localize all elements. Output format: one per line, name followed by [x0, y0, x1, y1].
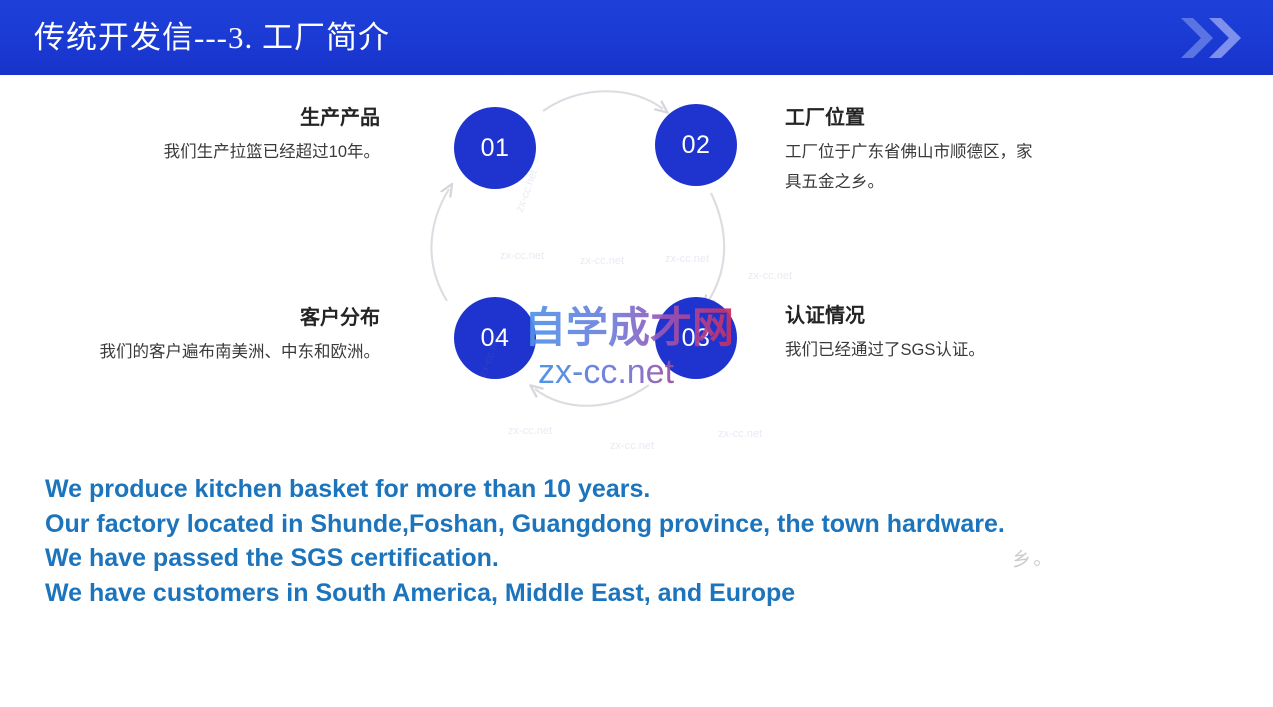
- quadrant-certification-heading: 认证情况: [785, 303, 1085, 329]
- cycle-node-02[interactable]: 02: [655, 104, 737, 186]
- quadrant-location-heading: 工厂位置: [785, 105, 1045, 131]
- watermark-tile: zx-cc.net: [610, 440, 654, 452]
- quadrant-customers-heading: 客户分布: [60, 305, 380, 331]
- quadrant-production: 生产产品 我们生产拉篮已经超过10年。: [60, 105, 380, 167]
- english-line-4: We have customers in South America, Midd…: [45, 576, 1055, 611]
- english-summary: We produce kitchen basket for more than …: [45, 472, 1055, 610]
- quadrant-customers: 客户分布 我们的客户遍布南美洲、中东和欧洲。: [60, 305, 380, 367]
- header-banner: 传统开发信---3. 工厂简介: [0, 0, 1273, 75]
- quadrant-certification-body: 我们已经通过了SGS认证。: [785, 335, 1085, 365]
- double-chevron-right-icon: [1179, 12, 1251, 64]
- cycle-node-01[interactable]: 01: [454, 107, 536, 189]
- watermark-tile: zx-cc.net: [508, 425, 552, 437]
- watermark-tile: zx-cc.net: [718, 428, 762, 440]
- cycle-node-02-label: 02: [682, 131, 711, 160]
- quadrant-production-body: 我们生产拉篮已经超过10年。: [60, 137, 380, 167]
- cycle-node-01-label: 01: [481, 134, 510, 163]
- quadrant-production-heading: 生产产品: [60, 105, 380, 131]
- quadrant-certification: 认证情况 我们已经通过了SGS认证。: [785, 303, 1085, 365]
- watermark-tile: zx-cc.net: [748, 270, 792, 282]
- quadrant-location-body: 工厂位于广东省佛山市顺德区，家具五金之乡。: [785, 137, 1045, 197]
- quadrant-location: 工厂位置 工厂位于广东省佛山市顺德区，家具五金之乡。: [785, 105, 1045, 197]
- cycle-node-03[interactable]: 03: [655, 297, 737, 379]
- watermark-tile: zx-cc.net: [500, 250, 544, 262]
- quadrant-customers-body: 我们的客户遍布南美洲、中东和欧洲。: [60, 337, 380, 367]
- cycle-node-03-label: 03: [682, 324, 711, 353]
- english-line-2: Our factory located in Shunde,Foshan, Gu…: [45, 507, 1055, 542]
- english-line-1: We produce kitchen basket for more than …: [45, 472, 1055, 507]
- watermark-tile: zx-cc.net: [580, 255, 624, 267]
- watermark-tile: zx-cc.net: [665, 253, 709, 265]
- page-title: 传统开发信---3. 工厂简介: [34, 15, 390, 60]
- english-line-3: We have passed the SGS certification.: [45, 541, 1055, 576]
